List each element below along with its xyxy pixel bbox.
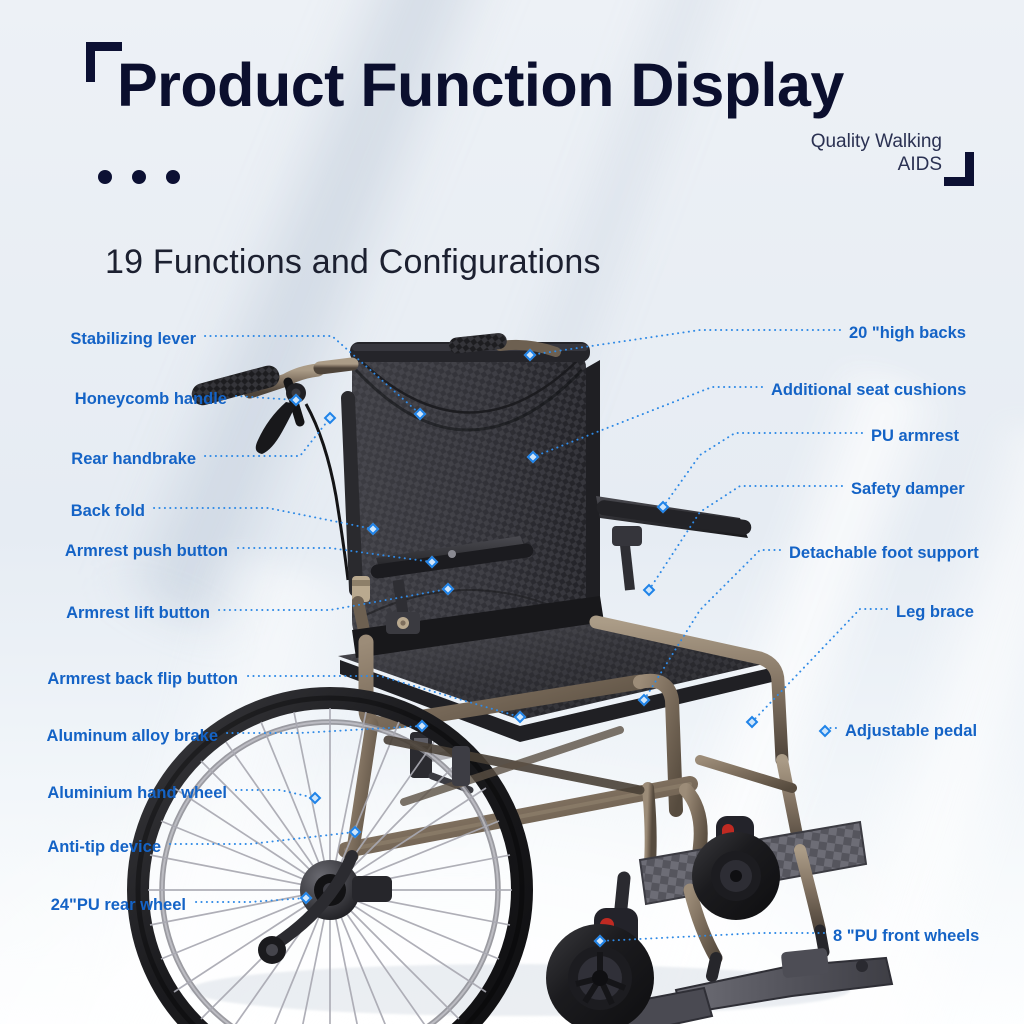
callout-marker-left-5[interactable] bbox=[442, 583, 455, 596]
callout-marker-right-2[interactable] bbox=[657, 501, 670, 514]
callout-label-right-2[interactable]: PU armrest bbox=[871, 428, 959, 445]
callout-label-right-1[interactable]: Additional seat cushions bbox=[771, 382, 966, 399]
callout-label-left-4[interactable]: Armrest push button bbox=[65, 543, 228, 560]
callout-label-right-6[interactable]: Adjustable pedal bbox=[845, 723, 977, 740]
callout-label-right-4[interactable]: Detachable foot support bbox=[789, 545, 979, 562]
callout-label-right-0[interactable]: 20 "high backs bbox=[849, 325, 966, 342]
callout-marker-right-1[interactable] bbox=[527, 451, 540, 464]
callout-marker-right-6[interactable] bbox=[819, 725, 832, 738]
callout-marker-right-7[interactable] bbox=[594, 935, 607, 948]
callout-marker-right-4[interactable] bbox=[638, 694, 651, 707]
callout-label-right-5[interactable]: Leg brace bbox=[896, 604, 974, 621]
callout-marker-left-1[interactable] bbox=[290, 394, 303, 407]
callout-marker-right-3[interactable] bbox=[643, 584, 656, 597]
callout-marker-left-6[interactable] bbox=[514, 711, 527, 724]
callout-label-left-2[interactable]: Rear handbrake bbox=[71, 451, 196, 468]
infographic-canvas: Product Function Display Quality Walking… bbox=[0, 0, 1024, 1024]
callout-marker-left-4[interactable] bbox=[426, 556, 439, 569]
callout-label-left-1[interactable]: Honeycomb handle bbox=[75, 391, 227, 408]
callout-label-left-6[interactable]: Armrest back flip button bbox=[47, 671, 238, 688]
callout-label-left-8[interactable]: Aluminium hand wheel bbox=[47, 785, 227, 802]
callout-marker-left-9[interactable] bbox=[349, 826, 362, 839]
callout-marker-right-0[interactable] bbox=[524, 349, 537, 362]
callout-marker-left-2[interactable] bbox=[324, 412, 337, 425]
callout-label-right-3[interactable]: Safety damper bbox=[851, 481, 965, 498]
callout-label-left-3[interactable]: Back fold bbox=[71, 503, 145, 520]
callout-marker-left-10[interactable] bbox=[300, 892, 313, 905]
callout-label-left-0[interactable]: Stabilizing lever bbox=[70, 331, 196, 348]
callout-marker-right-5[interactable] bbox=[746, 716, 759, 729]
callout-label-left-5[interactable]: Armrest lift button bbox=[66, 605, 210, 622]
callout-label-left-7[interactable]: Aluminum alloy brake bbox=[47, 728, 218, 745]
callout-marker-left-0[interactable] bbox=[414, 408, 427, 421]
callout-label-left-10[interactable]: 24"PU rear wheel bbox=[51, 897, 186, 914]
callout-label-left-9[interactable]: Anti-tip device bbox=[47, 839, 161, 856]
callout-marker-left-3[interactable] bbox=[367, 523, 380, 536]
callout-marker-left-7[interactable] bbox=[416, 720, 429, 733]
callout-label-right-7[interactable]: 8 "PU front wheels bbox=[833, 928, 979, 945]
callout-layer: Stabilizing leverHoneycomb handleRear ha… bbox=[0, 0, 1024, 1024]
callout-marker-left-8[interactable] bbox=[309, 792, 322, 805]
